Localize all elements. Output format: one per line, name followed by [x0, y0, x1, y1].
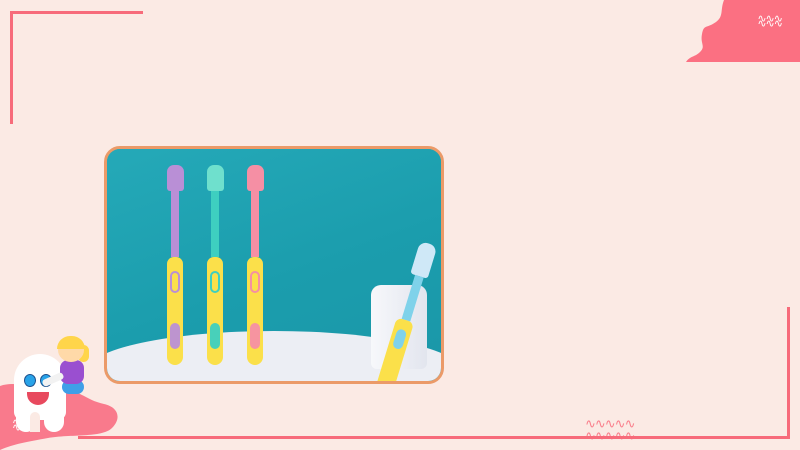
handle: [247, 257, 263, 365]
eye-left-icon: [24, 374, 36, 387]
handle-decor: [170, 323, 180, 349]
slide-root: ∿∿∿ ∿∿∿: [0, 0, 800, 450]
girl-hair: [57, 336, 85, 349]
girl-body: [60, 360, 84, 384]
thumb-pad: [210, 271, 220, 293]
product-photo: [104, 146, 444, 384]
handle-decor: [210, 323, 220, 349]
tooth-notch: [30, 412, 40, 432]
wave-mark-bottom-center: ∿∿∿∿∿ ∿∿∿∿∿: [585, 421, 634, 437]
corner-frame-left-line: [10, 11, 13, 124]
feature-list: [466, 205, 766, 301]
thumb-pad: [392, 328, 407, 350]
pink-toothbrush: [247, 165, 263, 365]
tooth-mascot: [8, 336, 86, 420]
decor-blob-top-right: ∿∿∿ ∿∿∿: [680, 0, 800, 62]
teal-toothbrush: [207, 165, 223, 365]
tooth-icon: [14, 354, 66, 420]
wave-mark-top-right-2: ∿∿∿: [757, 21, 782, 27]
corner-frame-right-line: [787, 307, 790, 437]
bristles: [167, 165, 184, 191]
bristles: [410, 241, 437, 279]
thumb-pad: [250, 271, 260, 293]
neck: [171, 191, 179, 257]
mouth-icon: [27, 392, 49, 405]
purple-toothbrush: [167, 165, 183, 365]
neck: [251, 191, 259, 257]
bristles: [247, 165, 264, 191]
bristles: [207, 165, 224, 191]
wave-line-1: ∿∿∿∿∿: [585, 421, 634, 429]
handle-decor: [250, 323, 260, 349]
handle: [207, 257, 223, 365]
corner-frame-top-line: [10, 11, 143, 14]
corner-frame-bottom-line: [78, 436, 790, 439]
photo-background: [107, 149, 441, 381]
neck: [211, 191, 219, 257]
thumb-pad: [170, 271, 180, 293]
handle: [167, 257, 183, 365]
